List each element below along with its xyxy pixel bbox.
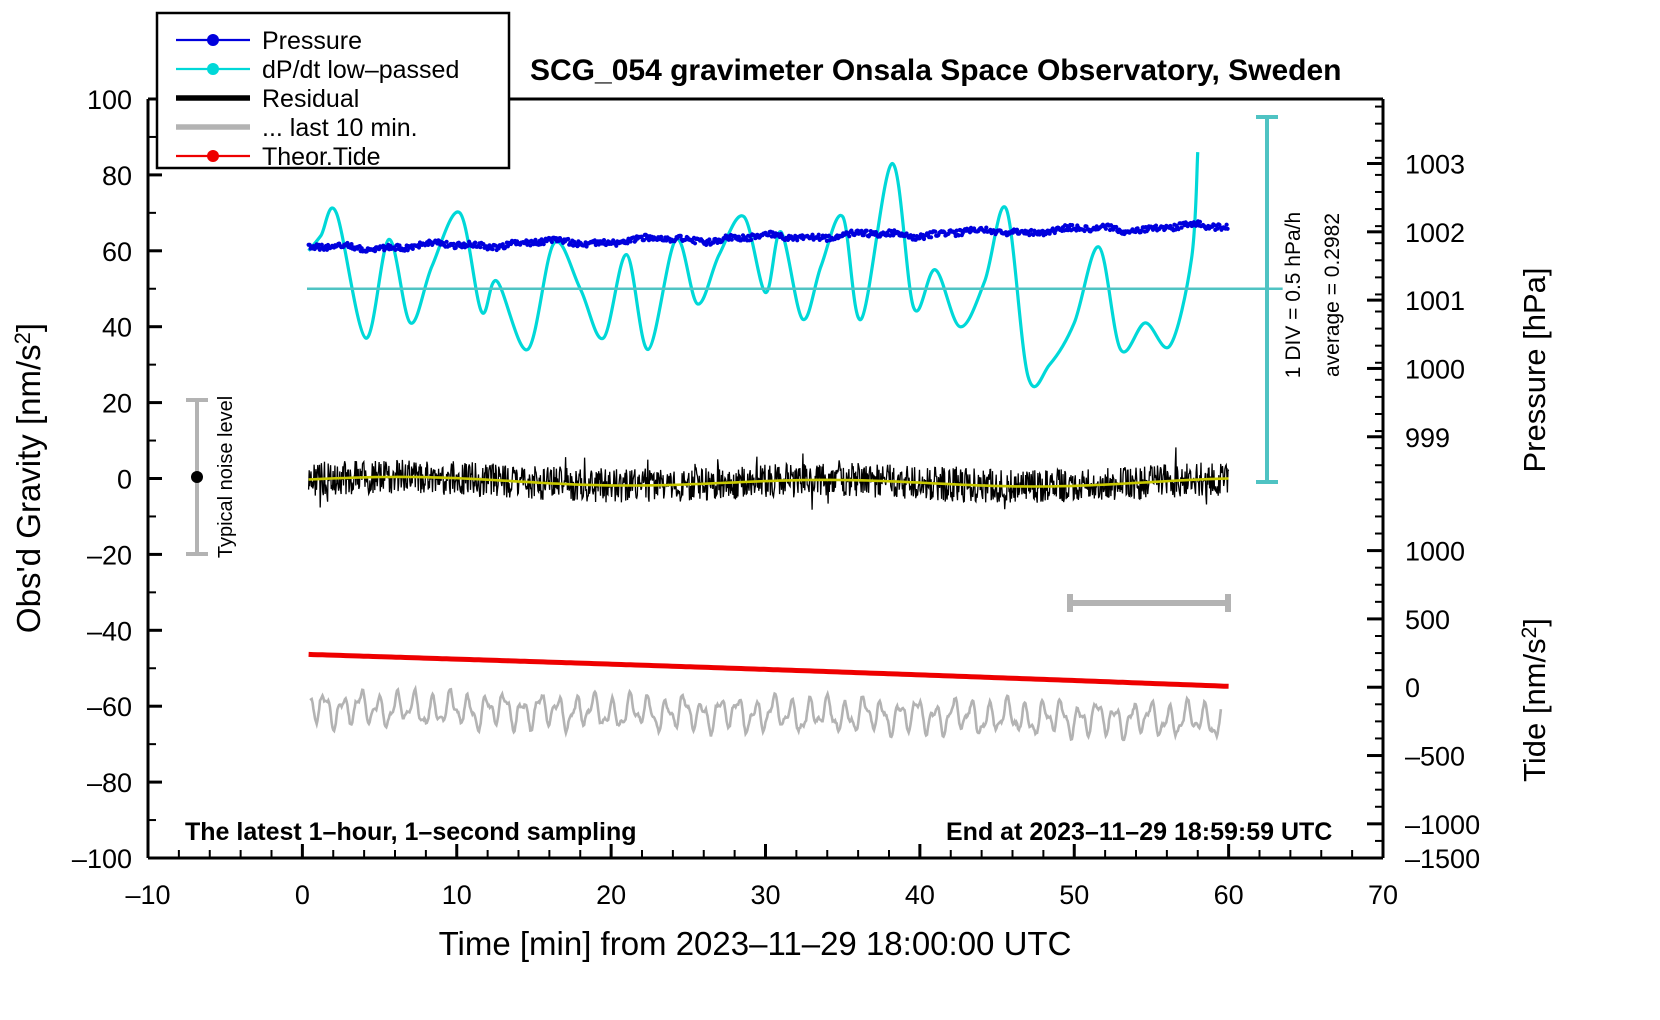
right-tide-tick-label: –1000 xyxy=(1405,810,1480,840)
right-pressure-tick-label: 1001 xyxy=(1405,286,1465,316)
chart-title: SCG_054 gravimeter Onsala Space Observat… xyxy=(530,54,1342,87)
legend-marker-dot xyxy=(207,150,219,162)
x-tick-label: 40 xyxy=(905,880,935,910)
typical-noise-level-label: Typical noise level xyxy=(215,396,237,558)
y-axis-title: Obs'd Gravity [nm/s2] xyxy=(10,323,47,633)
x-tick-label: 10 xyxy=(442,880,472,910)
right-pressure-tick-label: 1002 xyxy=(1405,218,1465,248)
legend-label: ... last 10 min. xyxy=(262,114,418,142)
scale-bar-div-label: 1 DIV = 0.5 hPa/h xyxy=(1282,212,1305,378)
right-pressure-tick-label: 1003 xyxy=(1405,150,1465,180)
x-tick-label: 70 xyxy=(1368,880,1398,910)
y-tick-label: 80 xyxy=(102,161,132,191)
legend: PressuredP/dt low–passedResidual... last… xyxy=(157,13,509,171)
x-tick-label: 30 xyxy=(750,880,780,910)
right-tide-tick-label: 500 xyxy=(1405,605,1450,635)
scale-bar-average-label: average = 0.2982 xyxy=(1321,213,1344,377)
right-tide-tick-label: 0 xyxy=(1405,673,1420,703)
y-tick-label: 0 xyxy=(117,465,132,495)
chart-page: –10010203040506070 –100–80–60–40–2002040… xyxy=(0,0,1660,1020)
y-axis-title-text: Obs'd Gravity [nm/s xyxy=(10,344,47,633)
y-tick-label: 60 xyxy=(102,237,132,267)
y-tick-label: –80 xyxy=(87,768,132,798)
y-tick-label: –100 xyxy=(72,844,132,874)
legend-label: Pressure xyxy=(262,27,362,55)
legend-marker-dot xyxy=(207,63,219,75)
y-tick-label: –60 xyxy=(87,692,132,722)
y-tick-label: 100 xyxy=(87,85,132,115)
legend-label: dP/dt low–passed xyxy=(262,56,459,84)
x-axis-title: Time [min] from 2023–11–29 18:00:00 UTC xyxy=(439,925,1072,962)
annotation-end-time: End at 2023–11–29 18:59:59 UTC xyxy=(946,818,1332,846)
right-pressure-tick-label: 999 xyxy=(1405,423,1450,453)
y-tick-label: 40 xyxy=(102,313,132,343)
x-tick-label: 0 xyxy=(295,880,310,910)
legend-label: Residual xyxy=(262,85,359,113)
x-tick-label: 50 xyxy=(1059,880,1089,910)
x-tick-label: 20 xyxy=(596,880,626,910)
annotation-sampling: The latest 1–hour, 1–second sampling xyxy=(185,818,637,846)
right-tide-tick-label: –1500 xyxy=(1405,844,1480,874)
legend-marker-dot xyxy=(207,34,219,46)
gravimeter-chart: –10010203040506070 –100–80–60–40–2002040… xyxy=(0,0,1660,1020)
right-pressure-tick-label: 1000 xyxy=(1405,354,1465,384)
y-tick-label: –20 xyxy=(87,540,132,570)
x-tick-label: –10 xyxy=(125,880,170,910)
right-tide-tick-label: 1000 xyxy=(1405,537,1465,567)
y-tick-label: –40 xyxy=(87,616,132,646)
right-tide-tick-label: –500 xyxy=(1405,742,1465,772)
right-axis-pressure-title: Pressure [hPa] xyxy=(1517,267,1552,472)
x-tick-label: 60 xyxy=(1214,880,1244,910)
legend-label: Theor.Tide xyxy=(262,143,381,171)
right-axis-tide-title: Tide [nm/s2] xyxy=(1517,618,1552,782)
y-tick-label: 20 xyxy=(102,389,132,419)
